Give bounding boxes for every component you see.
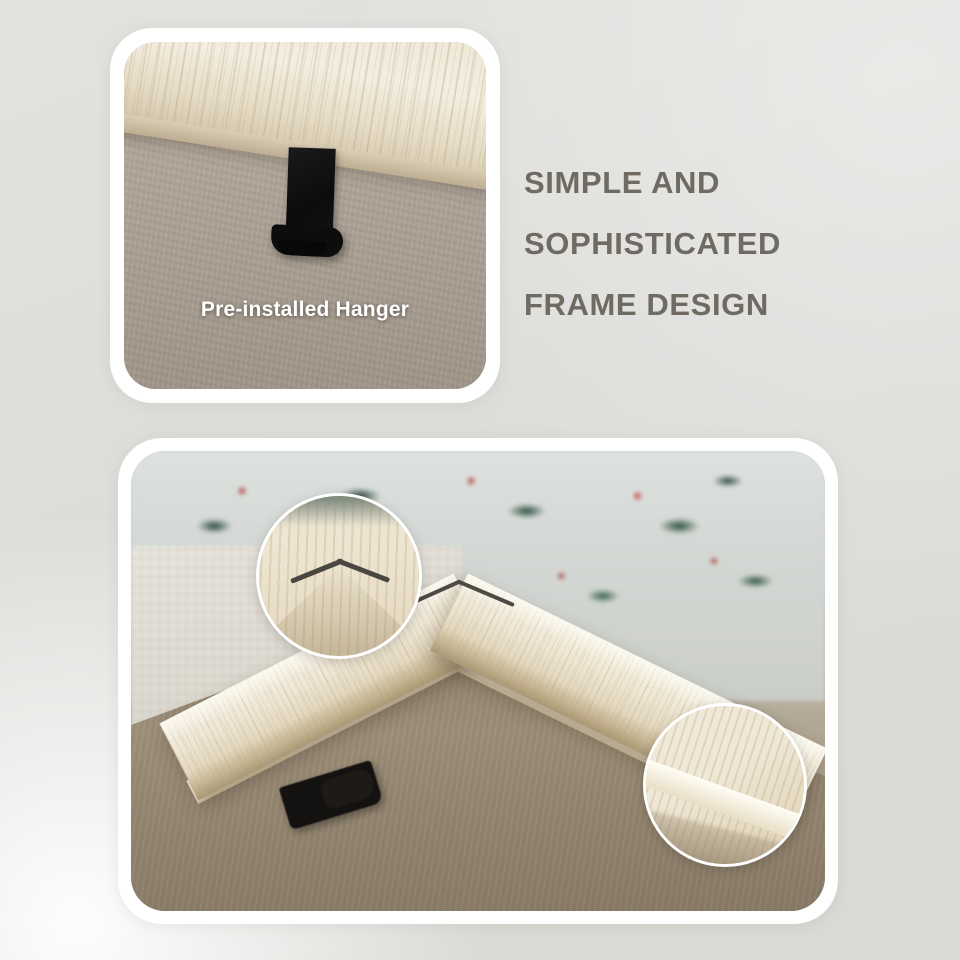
hanger-caption: Pre-installed Hanger xyxy=(124,298,486,322)
headline-block: SIMPLE AND SOPHISTICATED FRAME DESIGN xyxy=(524,152,924,335)
callout-l-nail-icon xyxy=(287,558,391,582)
wood-grain-zoom-callout xyxy=(643,703,807,867)
hanger-photo-panel: Pre-installed Hanger xyxy=(110,28,500,403)
hanger-photo-image xyxy=(124,42,486,389)
frame-photo-image: 2cm/0.8in TRACELESS L NAILS Make the woo… xyxy=(131,451,825,911)
frame-photo-panel: 2cm/0.8in TRACELESS L NAILS Make the woo… xyxy=(118,438,838,924)
hanger-photo-inner: Pre-installed Hanger xyxy=(124,42,486,389)
l-nail-zoom-callout xyxy=(256,493,422,659)
hanger-hook-icon xyxy=(270,224,343,258)
callout-nail-background-blur xyxy=(256,493,422,526)
headline-line-1: SIMPLE AND xyxy=(524,152,924,213)
headline-line-3: FRAME DESIGN xyxy=(524,274,924,335)
infographic-page: SIMPLE AND SOPHISTICATED FRAME DESIGN Pr… xyxy=(0,0,960,960)
headline-line-2: SOPHISTICATED xyxy=(524,213,924,274)
frame-photo-inner: 2cm/0.8in TRACELESS L NAILS Make the woo… xyxy=(131,451,825,911)
